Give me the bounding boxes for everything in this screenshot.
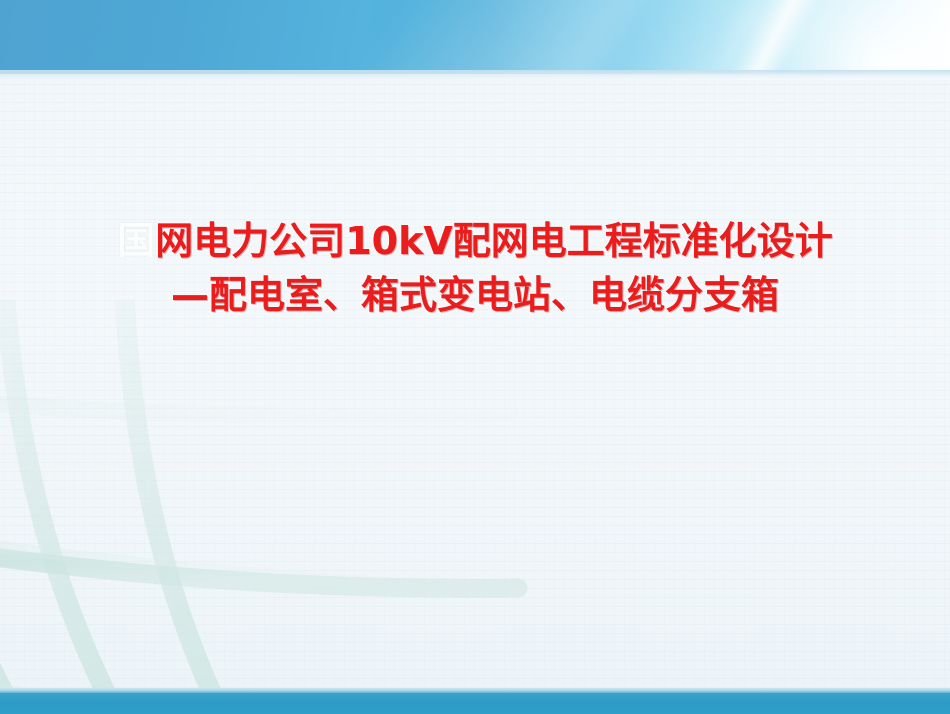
title-ghost-glyph: 国 (117, 219, 155, 263)
slide-background-texture (0, 0, 950, 714)
title-line-1-text: 网电力公司10kV配网电工程标准化设计 (155, 219, 833, 263)
footer-bar (0, 688, 950, 714)
presentation-slide: 国网电力公司10kV配网电工程标准化设计 —配电室、箱式变电站、电缆分支箱 (0, 0, 950, 714)
header-bottom-fade (0, 70, 950, 80)
slide-title-line-1: 国网电力公司10kV配网电工程标准化设计 (0, 222, 950, 260)
slide-subtitle-line-2: —配电室、箱式变电站、电缆分支箱 (0, 276, 950, 314)
header-banner (0, 0, 950, 80)
header-right-glow (720, 0, 950, 80)
slide-title-block: 国网电力公司10kV配网电工程标准化设计 —配电室、箱式变电站、电缆分支箱 (0, 222, 950, 314)
footer-main-strip (0, 693, 950, 714)
